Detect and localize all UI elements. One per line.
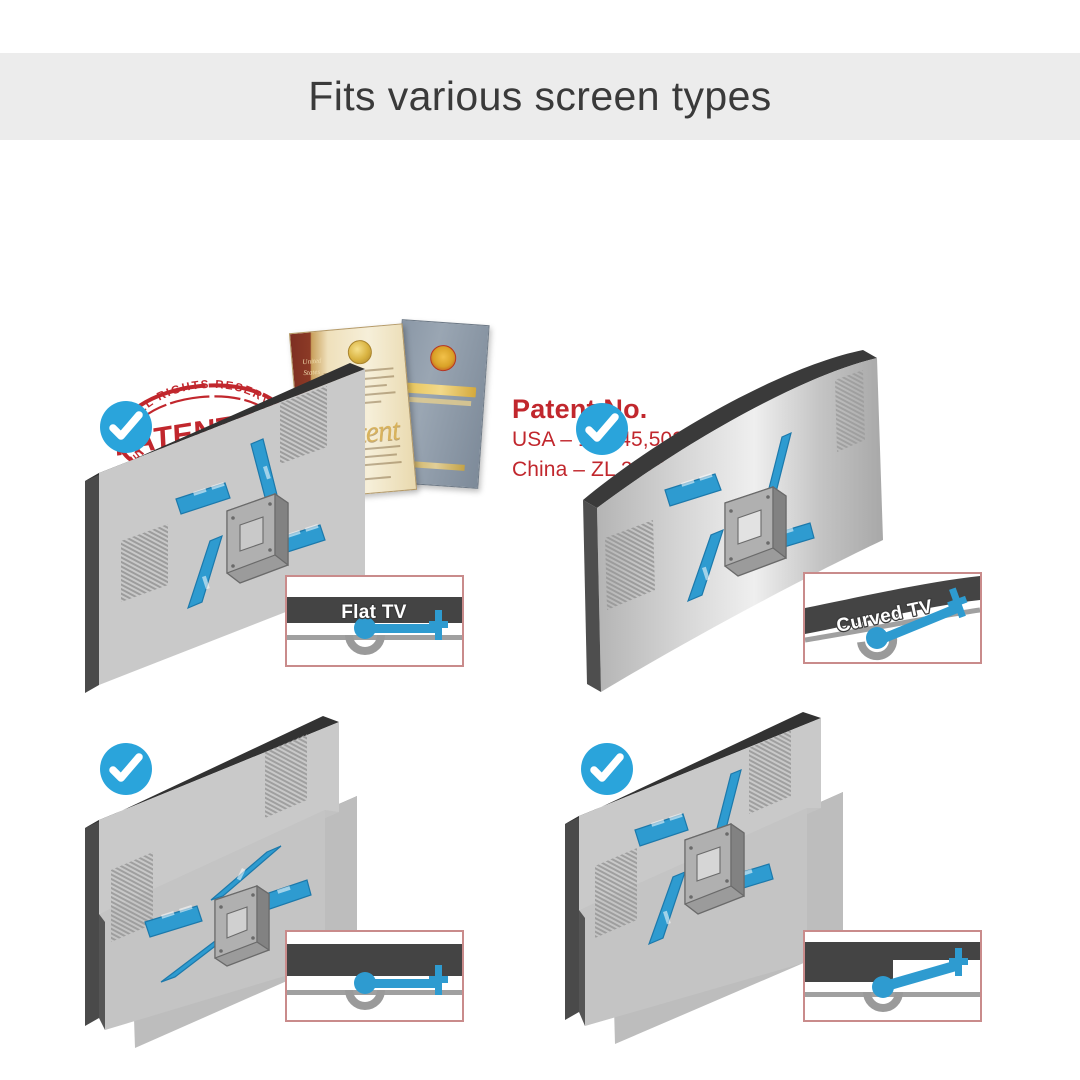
inset-thick-back-tv (285, 930, 464, 1022)
check-circle-icon (575, 402, 629, 456)
check-circle-icon (580, 742, 634, 796)
patent-block: • ALL RIGHTS RESERVED • • ALL RIGHTS RES… (0, 150, 1080, 360)
inset-label-flat-tv: Flat TV (341, 602, 406, 623)
check-circle-icon (99, 400, 153, 454)
inset-flat-tv: Flat TV (285, 575, 464, 667)
inset-curved-tv: Curved TV (803, 572, 982, 664)
inset-recessed-back-tv (803, 930, 982, 1022)
page-title: Fits various screen types (0, 53, 1080, 140)
check-circle-icon (99, 742, 153, 796)
